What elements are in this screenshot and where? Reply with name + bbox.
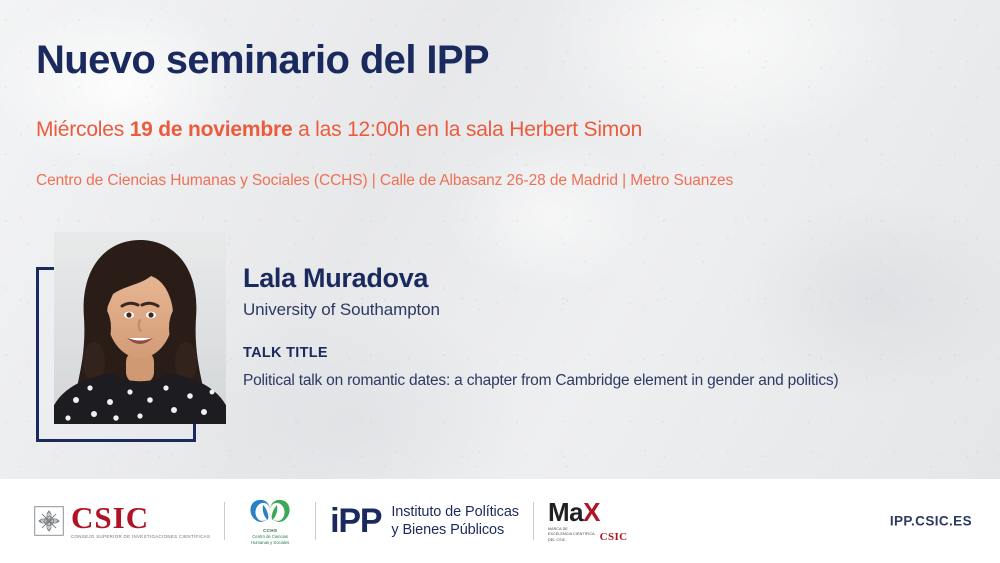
csic-emblem-icon [34, 506, 64, 536]
cchs-abbreviation: CCHS [263, 528, 277, 533]
seminar-poster: Nuevo seminario del IPP Miércoles 19 de … [0, 0, 1000, 563]
date-prefix: Miércoles [36, 118, 130, 141]
max-tagline-line1: MARCA DE [548, 527, 568, 531]
speaker-affiliation: University of Southampton [243, 300, 440, 320]
cchs-logo[interactable]: CCHS Centro de Ciencias Humanas y Social… [239, 497, 301, 545]
max-tagline-line3: DEL CSIC [548, 538, 566, 542]
max-csic-wordmark: CSIC [600, 532, 628, 543]
csic-wordmark: CSIC [71, 503, 210, 532]
max-wordmark-ma: Ma [548, 497, 583, 527]
cchs-tagline: Centro de Ciencias Humanas y Sociales [251, 534, 289, 545]
speaker-portrait [54, 232, 226, 424]
csic-logo[interactable]: CSIC CONSEJO SUPERIOR DE INVESTIGACIONES… [34, 503, 210, 539]
logo-divider [315, 502, 316, 540]
speaker-photo-block [36, 232, 226, 442]
ipp-logo[interactable]: iPP Instituto de Políticas y Bienes Públ… [330, 503, 519, 539]
talk-title-text: Political talk on romantic dates: a chap… [243, 372, 838, 390]
footer-bar: CSIC CONSEJO SUPERIOR DE INVESTIGACIONES… [0, 479, 1000, 563]
cchs-emblem-icon [247, 497, 293, 527]
ipp-subtitle-line1: Instituto de Políticas [391, 504, 519, 520]
ipp-subtitle: Instituto de Políticas y Bienes Públicos [391, 503, 519, 539]
max-wordmark-x: X [583, 497, 600, 527]
date-suffix: a las 12:00h en la sala Herbert Simon [292, 118, 642, 141]
max-tagline-line2: EXCELENCIA CIENTÍFICA [548, 532, 595, 536]
max-wordmark: MaX [548, 499, 600, 525]
speaker-name: Lala Muradova [243, 263, 428, 294]
ipp-wordmark: iPP [330, 504, 381, 538]
footer-website-url[interactable]: IPP.CSIC.ES [890, 514, 972, 529]
talk-title-label: TALK TITLE [243, 345, 328, 361]
footer-logo-row: CSIC CONSEJO SUPERIOR DE INVESTIGACIONES… [34, 479, 628, 563]
max-bottom-row: MARCA DE EXCELENCIA CIENTÍFICA DEL CSIC … [548, 527, 628, 543]
csic-tagline: CONSEJO SUPERIOR DE INVESTIGACIONES CIEN… [71, 534, 210, 539]
cchs-tagline-line2: Humanas y Sociales [251, 540, 289, 545]
max-tagline: MARCA DE EXCELENCIA CIENTÍFICA DEL CSIC [548, 527, 595, 543]
max-logo[interactable]: MaX MARCA DE EXCELENCIA CIENTÍFICA DEL C… [548, 499, 628, 543]
venue-address-line: Centro de Ciencias Humanas y Sociales (C… [36, 172, 733, 190]
cchs-tagline-line1: Centro de Ciencias [252, 534, 288, 539]
date-time-line: Miércoles 19 de noviembre a las 12:00h e… [36, 118, 642, 142]
csic-wordmark-group: CSIC CONSEJO SUPERIOR DE INVESTIGACIONES… [71, 503, 210, 539]
logo-divider [224, 502, 225, 540]
page-title: Nuevo seminario del IPP [36, 40, 489, 80]
logo-divider [533, 502, 534, 540]
ipp-subtitle-line2: y Bienes Públicos [391, 522, 504, 538]
date-highlight: 19 de noviembre [130, 118, 293, 141]
